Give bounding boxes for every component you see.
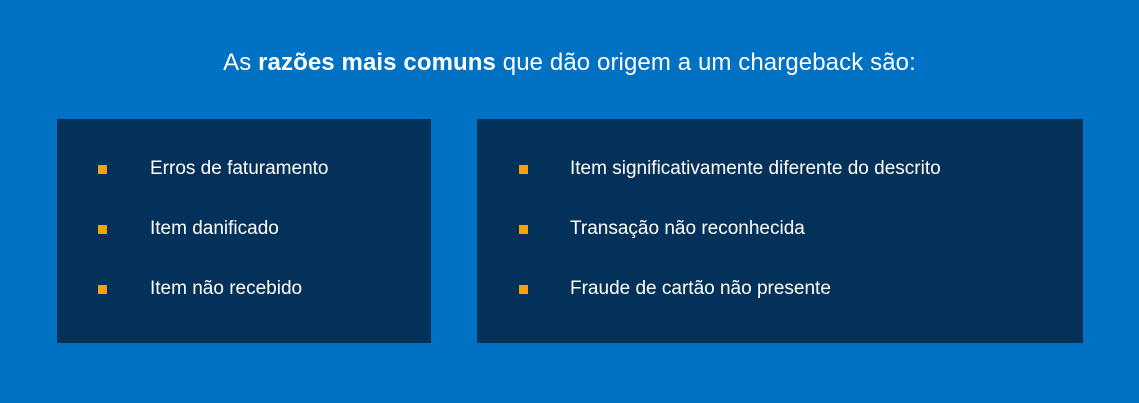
reason-label: Erros de faturamento	[150, 157, 328, 181]
reason-label: Item não recebido	[150, 277, 302, 301]
square-bullet-icon	[519, 165, 528, 174]
chargeback-reasons-infographic: As razões mais comuns que dão origem a u…	[0, 0, 1139, 403]
square-bullet-icon	[98, 165, 107, 174]
square-bullet-icon	[98, 225, 107, 234]
list-item: Item não recebido	[98, 275, 328, 303]
headline-emphasis: razões mais comuns	[258, 49, 496, 76]
reason-list-left: Erros de faturamento Item danificado Ite…	[98, 155, 328, 303]
reason-panels: Erros de faturamento Item danificado Ite…	[57, 119, 1083, 343]
list-item: Item significativamente diferente do des…	[519, 155, 941, 183]
list-item: Fraude de cartão não presente	[519, 275, 941, 303]
list-item: Item danificado	[98, 215, 328, 243]
list-item: Erros de faturamento	[98, 155, 328, 183]
reason-label: Item danificado	[150, 217, 279, 241]
reason-label: Transação não reconhecida	[570, 217, 805, 241]
list-item: Transação não reconhecida	[519, 215, 941, 243]
page-title: As razões mais comuns que dão origem a u…	[0, 48, 1139, 78]
headline-part-one: As	[223, 49, 258, 76]
square-bullet-icon	[519, 285, 528, 294]
reason-list-right: Item significativamente diferente do des…	[519, 155, 941, 303]
reason-label: Fraude de cartão não presente	[570, 277, 831, 301]
square-bullet-icon	[519, 225, 528, 234]
headline-part-three: que dão origem a um chargeback são:	[496, 49, 916, 76]
reasons-panel-left: Erros de faturamento Item danificado Ite…	[57, 119, 431, 343]
reason-label: Item significativamente diferente do des…	[570, 157, 941, 181]
square-bullet-icon	[98, 285, 107, 294]
reasons-panel-right: Item significativamente diferente do des…	[477, 119, 1083, 343]
